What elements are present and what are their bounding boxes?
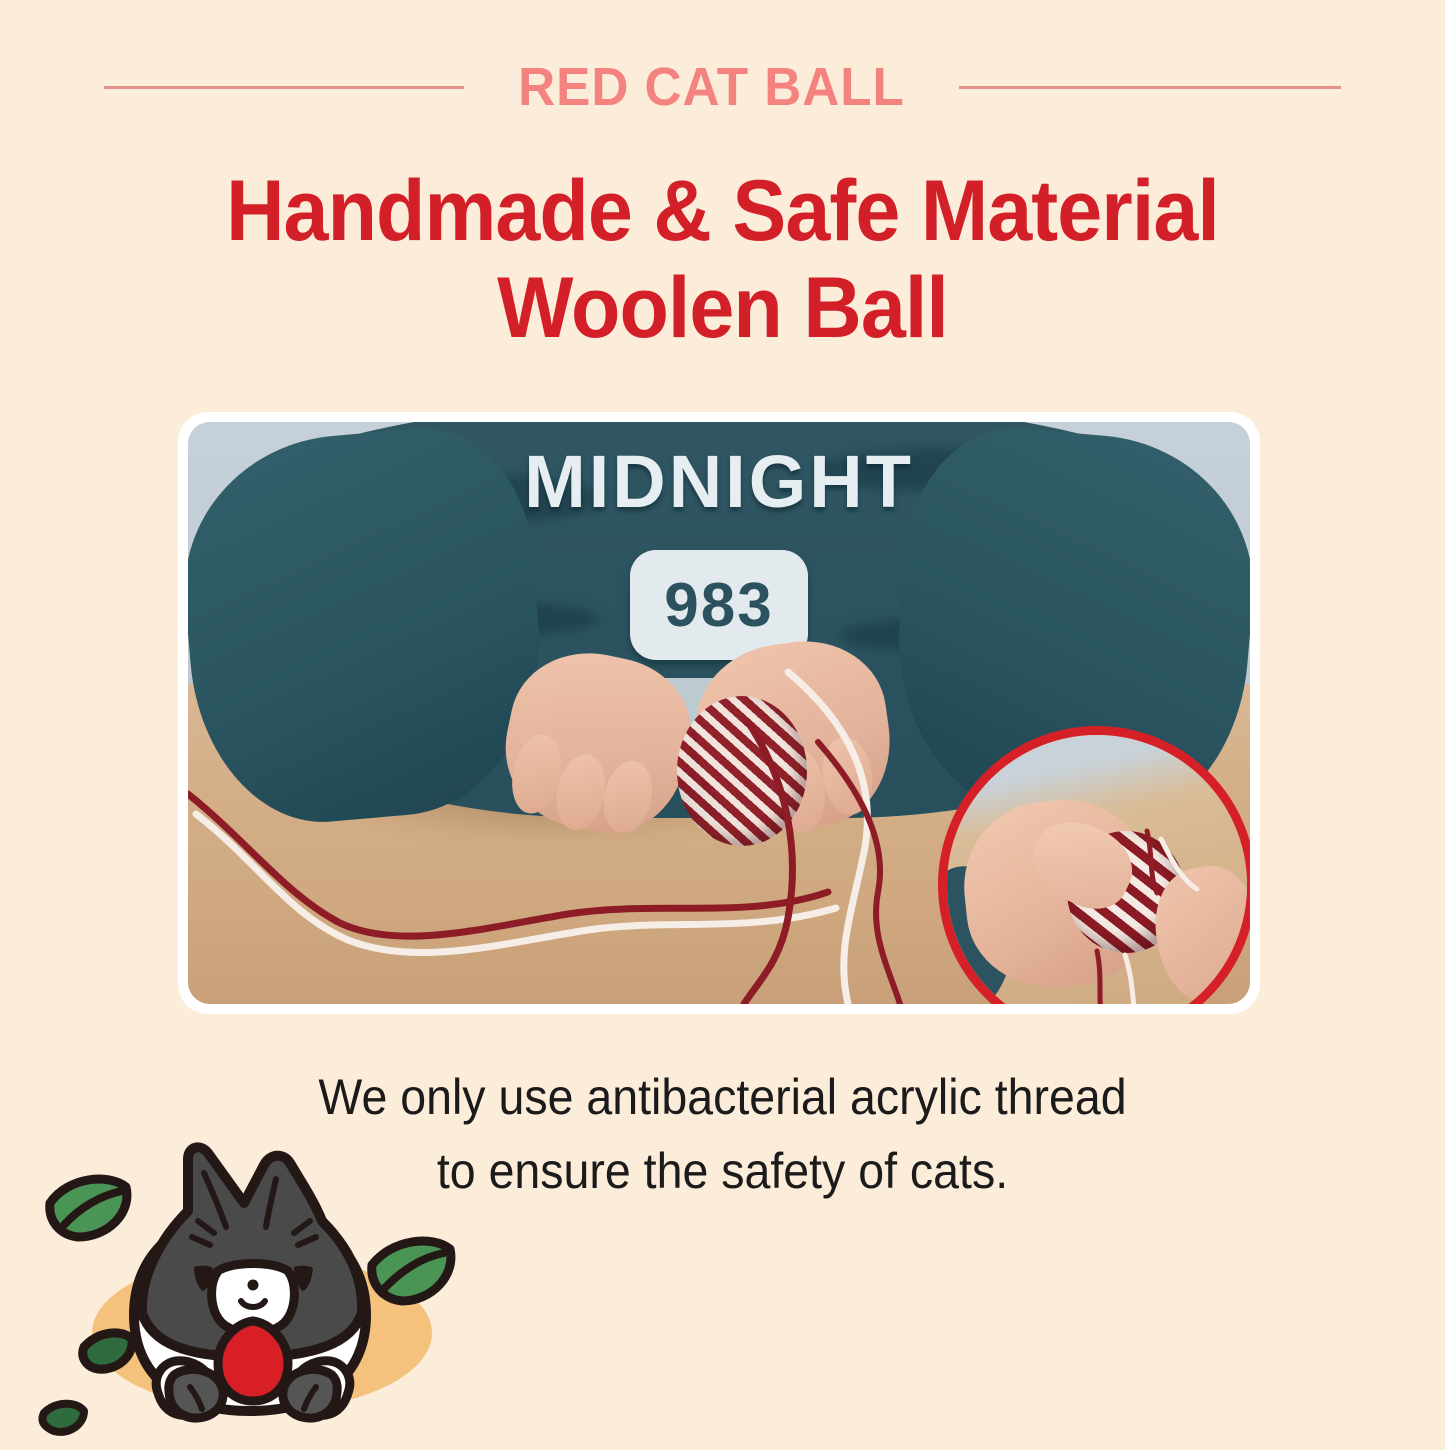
cat-mascot (22, 1125, 492, 1445)
leaf-right (372, 1241, 451, 1301)
sweatshirt-number: 983 (664, 570, 773, 641)
photo-yarn-ball (677, 696, 807, 846)
cat-mascot-illustration (22, 1125, 492, 1445)
eyebrow-label: RED CAT BALL (518, 60, 905, 114)
rule-left (104, 86, 464, 89)
leaf-bottom-left (83, 1333, 132, 1369)
leaf-top-left (50, 1179, 127, 1237)
page-title: Handmade & Safe Material Woolen Ball (0, 163, 1445, 357)
page-title-line-1: Handmade & Safe Material (43, 163, 1401, 260)
mascot-nose (248, 1280, 259, 1291)
eyebrow-row: RED CAT BALL (0, 52, 1445, 122)
product-photo: MIDNIGHT 983 (188, 422, 1250, 1004)
caption-line-1: We only use antibacterial acrylic thread (51, 1060, 1395, 1134)
photo-inset-circle (938, 726, 1250, 1004)
sweatshirt-word: MIDNIGHT (524, 439, 914, 524)
mascot-red-ball (218, 1321, 288, 1401)
rule-right (959, 86, 1341, 89)
product-photo-card: MIDNIGHT 983 (178, 412, 1260, 1014)
leaf-bottom-far-left (42, 1404, 84, 1432)
page-title-line-2: Woolen Ball (43, 260, 1401, 357)
